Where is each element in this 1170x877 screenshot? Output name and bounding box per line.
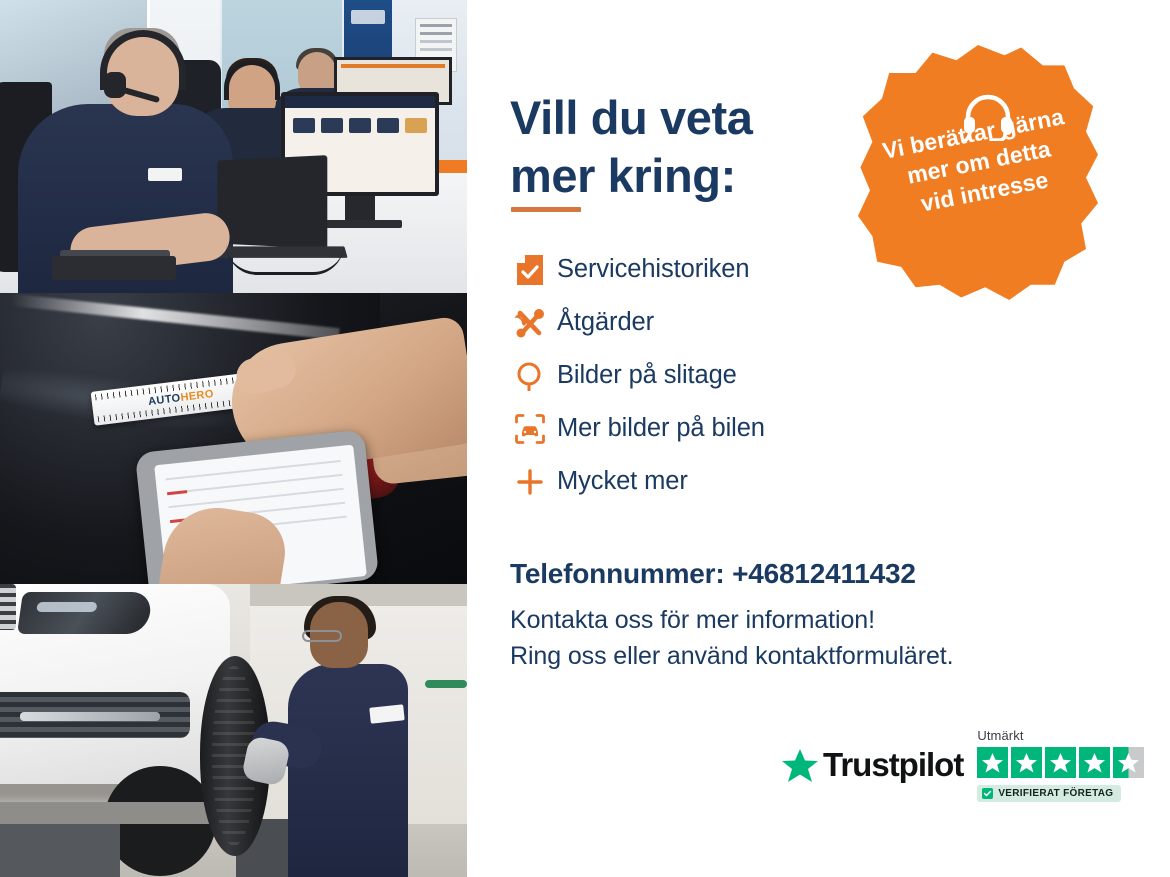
list-item: Mycket mer	[503, 455, 883, 508]
trustpilot-star-icon	[782, 748, 818, 783]
monitor-stand	[345, 196, 375, 222]
phone-line: Telefonnummer: +46812411432	[510, 558, 916, 590]
list-item: Åtgärder	[503, 296, 883, 349]
plus-icon	[503, 467, 557, 497]
contact-line-1: Kontakta oss för mer information!	[510, 606, 875, 634]
star-2	[1011, 747, 1042, 778]
laptop-screen	[217, 155, 327, 249]
agent-1-name-badge	[148, 168, 182, 181]
document-check-icon	[503, 255, 557, 285]
content-panel: Vill du veta mer kring: Vi berättar gärn…	[467, 0, 1170, 877]
page-title-line-1: Vill du veta	[510, 91, 752, 144]
list-item-label: Mer bilder på bilen	[557, 414, 765, 443]
list-item: Mer bilder på bilen	[503, 402, 883, 455]
car-scan-icon	[503, 414, 557, 444]
bumper-chrome-trim	[20, 712, 160, 721]
desk-tablet	[52, 256, 176, 280]
promo-page: AUTOHERO	[0, 0, 1170, 877]
page-title-line-2: mer kring:	[510, 149, 736, 202]
star-3	[1045, 747, 1076, 778]
trustpilot-rating-label: Utmärkt	[977, 728, 1023, 743]
cable-decor	[226, 244, 344, 275]
car-grille	[0, 584, 16, 630]
monitor-base	[320, 220, 402, 228]
trustpilot-rating-block: Utmärkt	[977, 728, 1144, 802]
inspection-photo: AUTOHERO	[0, 293, 467, 584]
car-lift-platform	[0, 802, 210, 824]
photo-column: AUTOHERO	[0, 0, 467, 877]
list-item-label: Mycket mer	[557, 467, 688, 496]
trustpilot-wordmark: Trustpilot	[823, 746, 963, 784]
trustpilot-stars	[977, 747, 1144, 778]
mechanic-body	[288, 664, 408, 877]
workshop-photo	[0, 584, 467, 877]
magnifier-icon	[503, 361, 557, 391]
list-item-label: Bilder på slitage	[557, 361, 737, 390]
call-center-photo	[0, 0, 467, 293]
car-headlight	[17, 592, 153, 634]
list-item-label: Servicehistoriken	[557, 255, 749, 284]
contact-line-2: Ring oss eller använd kontaktformuläret.	[510, 642, 953, 670]
tools-icon	[503, 307, 557, 339]
verified-check-icon	[982, 788, 993, 799]
verified-company-text: VERIFIERAT FÖRETAG	[998, 788, 1113, 799]
star-4	[1079, 747, 1110, 778]
trustpilot-logo: Trustpilot	[782, 746, 963, 784]
tool-cabinet-2	[0, 824, 120, 877]
page-title: Vill du veta mer kring:	[510, 89, 840, 204]
feature-list: Servicehistoriken Åtgärder	[503, 243, 883, 508]
verified-company-badge: VERIFIERAT FÖRETAG	[977, 785, 1121, 802]
agent-1-ear-cup	[104, 72, 126, 98]
list-item: Servicehistoriken	[503, 243, 883, 296]
green-hose-decor	[425, 680, 467, 688]
contact-description: Kontakta oss för mer information! Ring o…	[510, 602, 953, 675]
callout-badge: Vi berättar gärna mer om detta vid intre…	[858, 45, 1098, 300]
phone-number[interactable]: +46812411432	[732, 558, 916, 589]
list-item: Bilder på slitage	[503, 349, 883, 402]
phone-label: Telefonnummer:	[510, 558, 724, 589]
star-5-half	[1113, 747, 1144, 778]
list-item-label: Åtgärder	[557, 308, 654, 337]
star-1	[977, 747, 1008, 778]
trustpilot-widget[interactable]: Trustpilot Utmärkt	[782, 728, 1144, 802]
title-divider	[511, 207, 581, 212]
mechanic-glasses	[302, 630, 342, 642]
